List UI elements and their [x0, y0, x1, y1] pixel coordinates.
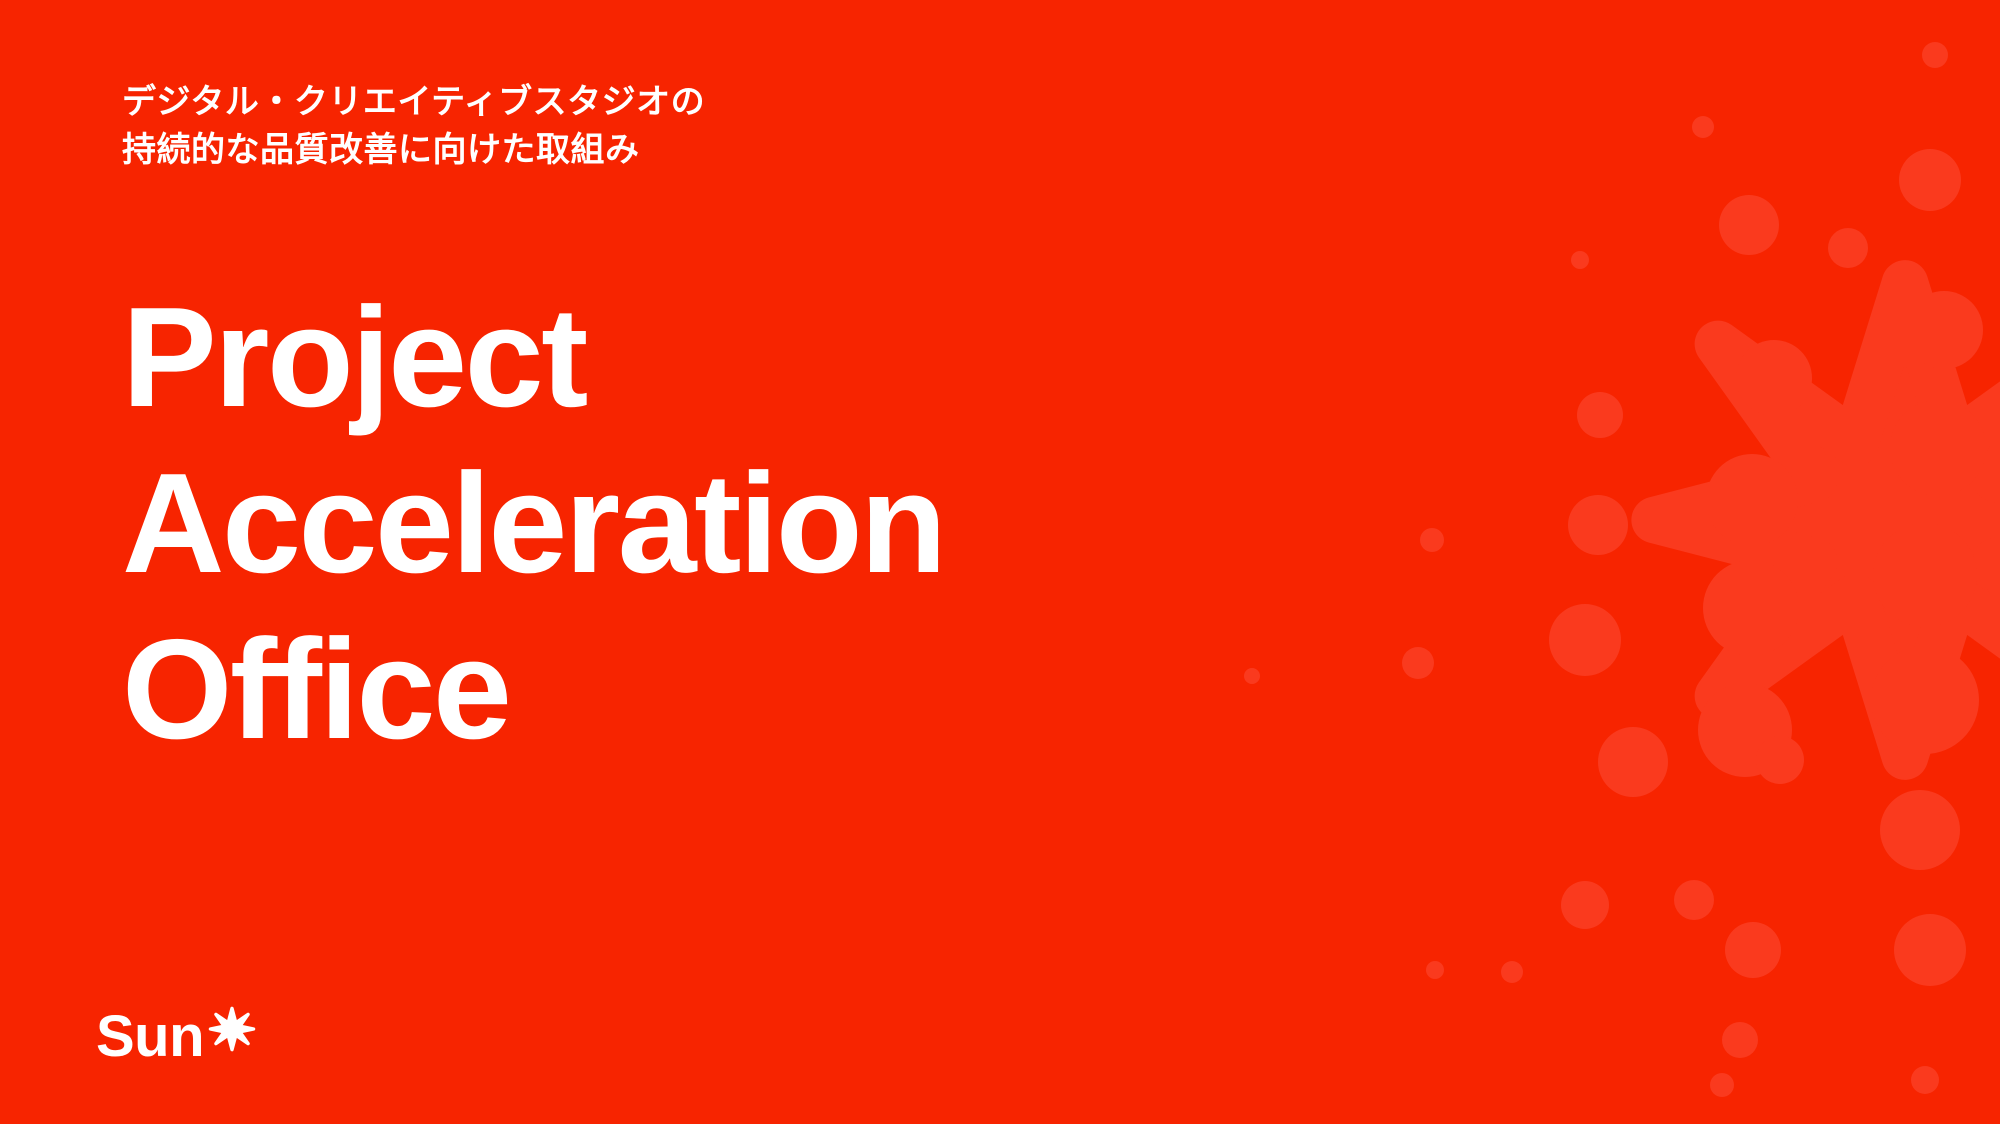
subtitle: デジタル・クリエイティブスタジオの 持続的な品質改善に向けた取組み — [122, 78, 705, 175]
asterisk-star-icon — [208, 1005, 256, 1053]
title-slide: デジタル・クリエイティブスタジオの 持続的な品質改善に向けた取組み Projec… — [0, 0, 2000, 1124]
title-line-3: Office — [122, 607, 944, 773]
logo-wordmark: Sun — [96, 1008, 204, 1066]
page-title: Project Acceleration Office — [122, 275, 944, 773]
slide-content: デジタル・クリエイティブスタジオの 持続的な品質改善に向けた取組み Projec… — [0, 0, 2000, 1124]
sun-asterisk-logo: Sun — [96, 1002, 256, 1072]
title-line-1: Project — [122, 275, 944, 441]
title-line-2: Acceleration — [122, 441, 944, 607]
